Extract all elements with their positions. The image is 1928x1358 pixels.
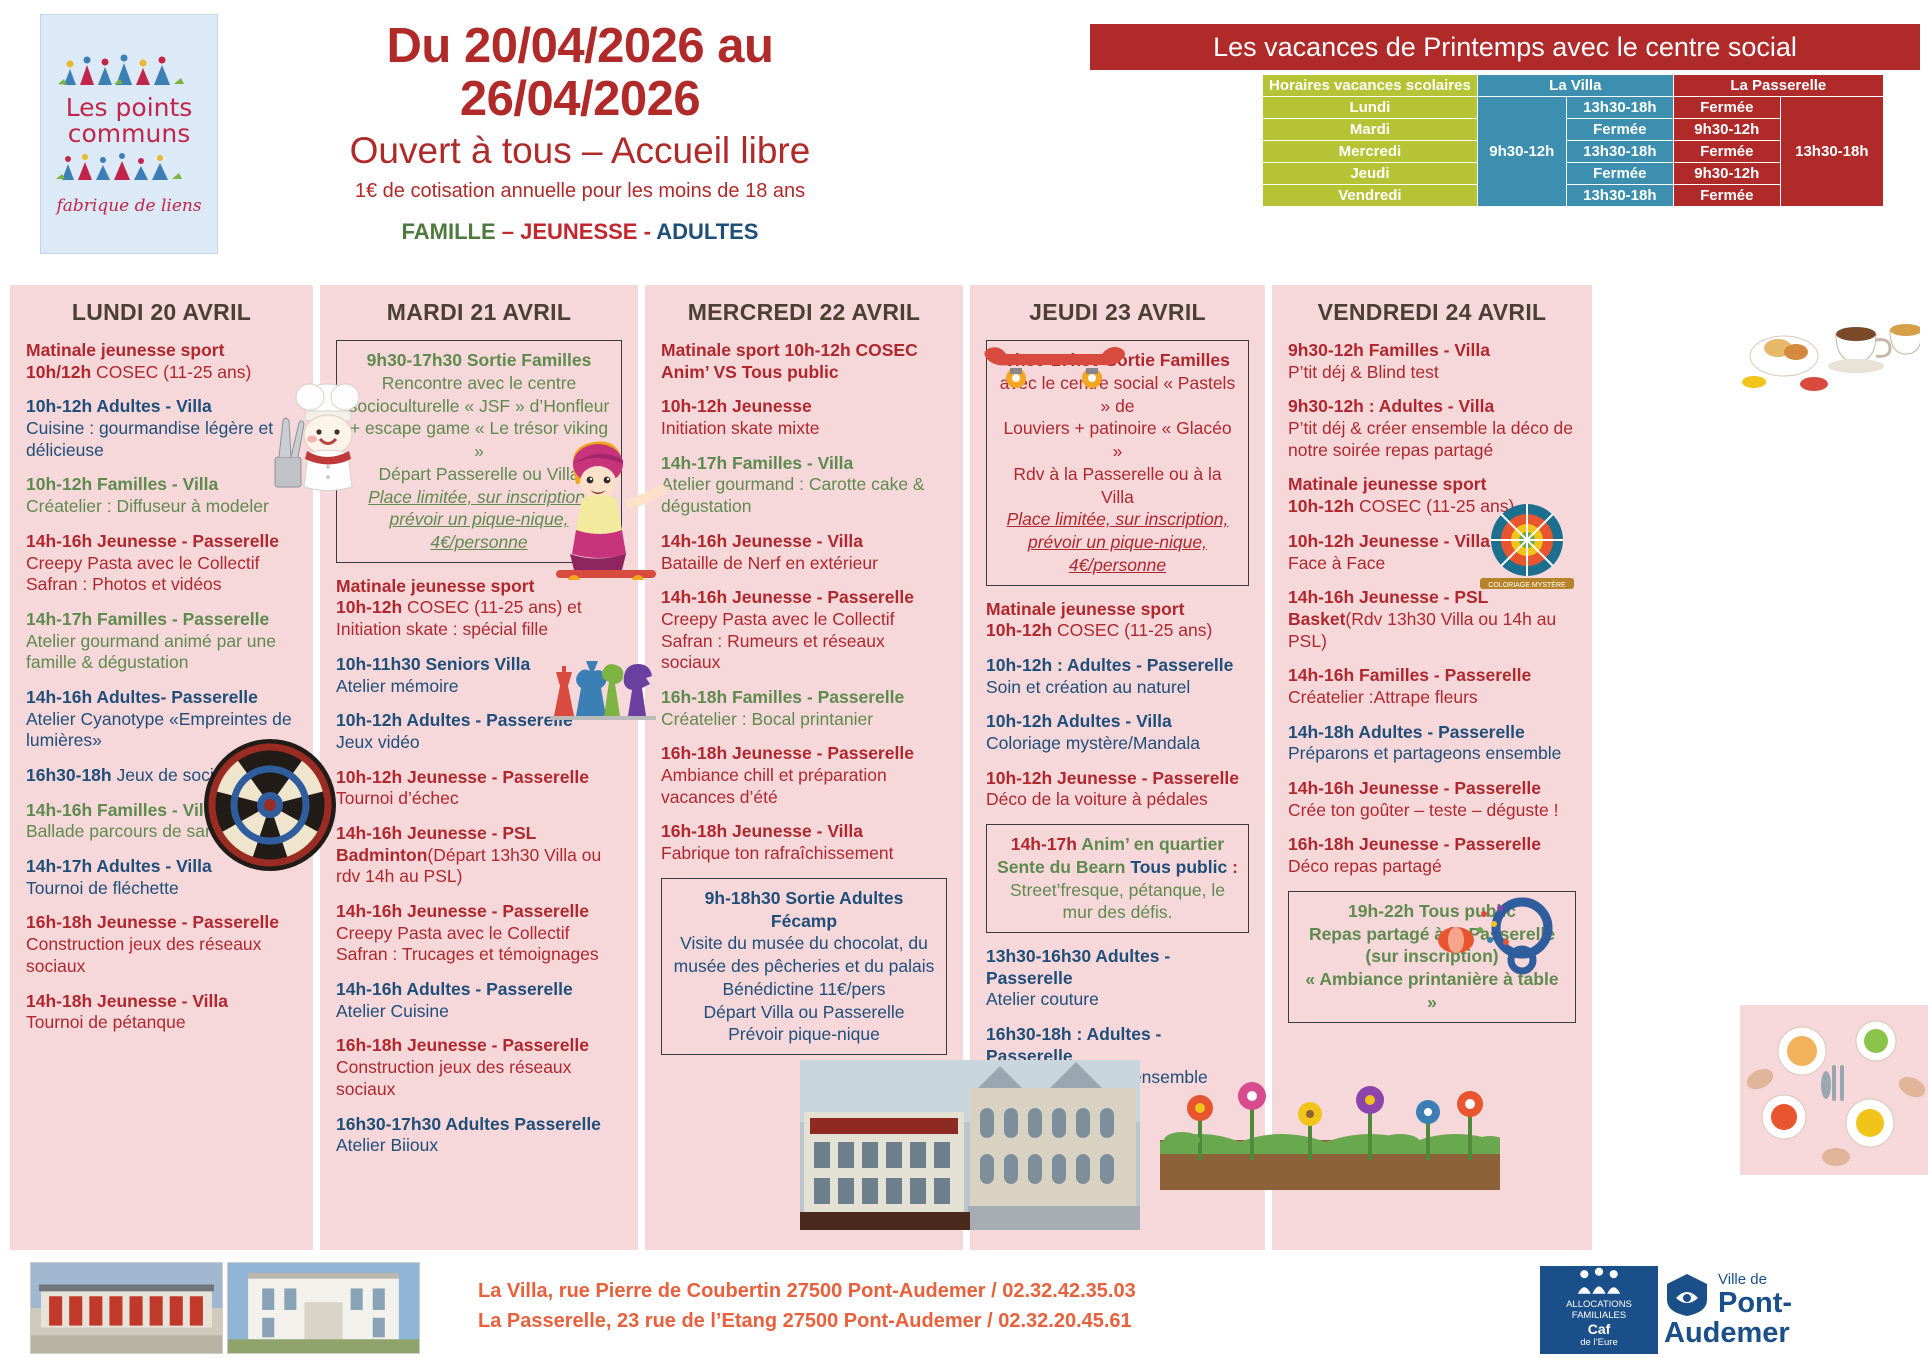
event-body: Atelier mémoire [336, 676, 622, 698]
hours-villa-pm-vendredi: 13h30-18h [1566, 185, 1673, 207]
event-line: Visite du musée du chocolat, du [672, 932, 936, 955]
day-column-2: MERCREDI 22 AVRILMatinale sport 10h-12h … [645, 285, 963, 1250]
event-heading: 14h-16h Jeunesse - Passerelle [26, 531, 297, 553]
event-item: 14h-16h Jeunesse - PSLBasket(Rdv 13h30 V… [1288, 587, 1576, 652]
event-body: Atelier Cyanotype «Empreintes de lumière… [26, 709, 297, 752]
hours-pass-am-lundi: Fermée [1673, 97, 1780, 119]
event-body: Cuisine : gourmandise légère et délicieu… [26, 418, 297, 461]
event-body: P’tit déj & créer ensemble la déco de no… [1288, 418, 1576, 461]
poster-footer: La Villa, rue Pierre de Coubertin 27500 … [0, 1262, 1928, 1358]
event-heading: 10h-12h Adultes - Villa [986, 711, 1249, 733]
event-time: 10h/12h [26, 362, 91, 382]
event-heading: 14h-16h Familles - Passerelle [1288, 665, 1576, 687]
event-item: Matinale jeunesse sport10h-12h COSEC (11… [336, 576, 622, 641]
hours-day-jeudi: Jeudi [1263, 163, 1478, 185]
people-figures-icon-2 [54, 148, 204, 192]
event-heading: 16h-18h Jeunesse - Villa [661, 821, 947, 843]
event-line: Rencontre avec le centre [347, 372, 611, 395]
event-item: 10h-12h Familles - VillaCréatelier : Dif… [26, 474, 297, 517]
event-item: 16h-18h Jeunesse - PasserelleConstructio… [336, 1035, 622, 1100]
event-item: 10h-12h Jeunesse - PasserelleDéco de la … [986, 768, 1249, 811]
event-heading: 10h-12h : Adultes - Passerelle [986, 655, 1249, 677]
event-item: 14h-16h Familles - PasserelleCréatelier … [1288, 665, 1576, 708]
building-photos [30, 1262, 420, 1354]
event-heading: 10h-12h Jeunesse - Passerelle [986, 768, 1249, 790]
event-body: Street’fresque, pétanque, le mur des déf… [997, 879, 1238, 925]
event-time: Badminton [336, 845, 427, 865]
event-item: 13h30-16h30 Adultes - PasserelleAtelier … [986, 946, 1249, 1011]
audience-famille: FAMILLE [402, 219, 496, 244]
event-body: Créatelier :Attrape fleurs [1288, 687, 1576, 709]
audience-legend: FAMILLE – JEUNESSE - ADULTES [300, 219, 860, 245]
event-heading-part: 14h-17h [1011, 834, 1081, 854]
event-heading: 14h-17h Familles - Passerelle [26, 609, 297, 631]
event-heading: 14h-18h Jeunesse - Villa [26, 991, 297, 1013]
event-heading: 14h-16h Jeunesse - Passerelle [661, 587, 947, 609]
hours-pass-am-mercredi: Fermée [1673, 141, 1780, 163]
hours-col-header: Horaires vacances scolaires [1263, 75, 1478, 97]
event-time: 10h-12h [336, 597, 402, 617]
event-heading: Matinale jeunesse sport [26, 340, 297, 362]
event-line: (sur inscription) [1299, 945, 1565, 968]
event-body: Jeux de société [112, 765, 238, 785]
breakfast-illustration [1740, 290, 1920, 410]
event-heading: 14h-18h Adultes - Passerelle [1288, 722, 1576, 744]
spring-holiday-banner: Les vacances de Printemps avec le centre… [1090, 24, 1920, 70]
event-item: Matinale sport 10h-12h COSECAnim’ VS Tou… [661, 340, 947, 383]
day-title: JEUDI 23 AVRIL [986, 299, 1249, 326]
day-column-0: LUNDI 20 AVRILMatinale jeunesse sport10h… [10, 285, 313, 1250]
event-item: Matinale jeunesse sport10h-12h COSEC (11… [1288, 474, 1576, 517]
event-body: Déco de la voiture à pédales [986, 789, 1249, 811]
event-heading-2: Anim’ VS Tous public [661, 362, 947, 384]
day-column-1: MARDI 21 AVRIL9h30-17h30 Sortie Familles… [320, 285, 638, 1250]
hours-passerelle-header: La Passerelle [1673, 75, 1883, 97]
event-time: 10h-12h [986, 620, 1052, 640]
subtitle: Ouvert à tous – Accueil libre [300, 128, 860, 174]
event-item: 10h-12h Adultes - PasserelleJeux vidéo [336, 710, 622, 753]
event-heading: 16h-18h Jeunesse - Passerelle [336, 1035, 622, 1057]
hours-row-lundi: Lundi 9h30-12h 13h30-18h Fermée 13h30-18… [1263, 97, 1884, 119]
event-heading: 9h30-17h30 Sortie Familles [997, 349, 1238, 372]
hours-villa-header: La Villa [1477, 75, 1673, 97]
event-heading-part: : [1227, 857, 1238, 877]
event-heading: 16h-18h Jeunesse - Passerelle [661, 743, 947, 765]
event-line: « Ambiance printanière à table » [1299, 968, 1565, 1014]
event-item: 9h30-12h Familles - VillaP’tit déj & Bli… [1288, 340, 1576, 383]
event-time: Basket [1288, 609, 1345, 629]
event-body: Atelier couture [986, 989, 1249, 1011]
event-item: 14h-17h Familles - VillaAtelier gourmand… [661, 453, 947, 518]
event-body: P’tit déj & Blind test [1288, 362, 1576, 384]
address-villa: La Villa, rue Pierre de Coubertin 27500 … [478, 1276, 1136, 1306]
event-item: 14h-17h Adultes - VillaTournoi de fléche… [26, 856, 297, 899]
event-note: Place limitée, sur inscription, prévoir … [347, 486, 611, 554]
event-line: 19h-22h Tous public [1299, 900, 1565, 923]
event-body: COSEC (11-25 ans) [91, 362, 251, 382]
event-heading: 16h-18h Jeunesse - Passerelle [26, 912, 297, 934]
hours-day-lundi: Lundi [1263, 97, 1478, 119]
event-body: Crée ton goûter – teste – déguste ! [1288, 800, 1576, 822]
day-title: LUNDI 20 AVRIL [26, 299, 297, 326]
event-body: Préparons et partageons ensemble [1288, 743, 1576, 765]
event-item: 14h-16h Jeunesse - PasserelleCrée ton go… [1288, 778, 1576, 821]
event-item: 10h-11h30 Seniors VillaAtelier mémoire [336, 654, 622, 697]
event-heading: 14h-16h Jeunesse - Villa [661, 531, 947, 553]
event-body: Construction jeux des réseaux sociaux [26, 934, 297, 977]
opening-hours-table: Horaires vacances scolaires La Villa La … [1262, 74, 1884, 207]
contact-addresses: La Villa, rue Pierre de Coubertin 27500 … [478, 1276, 1136, 1336]
event-line: Repas partagé à la Passerelle [1299, 923, 1565, 946]
event-heading: Matinale jeunesse sport [1288, 474, 1576, 496]
day-column-3: JEUDI 23 AVRIL9h30-17h30 Sortie Familles… [970, 285, 1265, 1250]
event-heading: 10h-12h Familles - Villa [26, 474, 297, 496]
event-body: Tournoi de fléchette [26, 878, 297, 900]
event-body: Soin et création au naturel [986, 677, 1249, 699]
event-item: Matinale jeunesse sport10h/12h COSEC (11… [26, 340, 297, 383]
event-body: Creepy Pasta avec le Collectif Safran : … [26, 553, 297, 596]
boxed-event-top: 9h30-17h30 Sortie Famillesavec le centre… [986, 340, 1249, 586]
event-heading: 14h-16h Adultes- Passerelle [26, 687, 297, 709]
event-body: COSEC (11-25 ans) [1052, 620, 1212, 640]
event-body: Creepy Pasta avec le Collectif Safran : … [336, 923, 622, 966]
event-line: 10h-12h COSEC (11-25 ans) [986, 620, 1249, 642]
event-line: Louviers + patinoire « Glacéo » [997, 417, 1238, 463]
event-heading: Matinale jeunesse sport [336, 576, 622, 598]
ville-logo: Ville de Pont-Audemer [1664, 1272, 1864, 1349]
hours-villa-pm-mardi: Fermée [1566, 119, 1673, 141]
event-item: 10h-12h Adultes - VillaColoriage mystère… [986, 711, 1249, 754]
hours-villa-morning: 9h30-12h [1477, 97, 1566, 207]
event-body: Initiation skate mixte [661, 418, 947, 440]
event-body: Atelier Biioux [336, 1135, 622, 1157]
poster-header: Les points communs fabrique de liens Du … [0, 0, 1928, 256]
event-heading: 10h-11h30 Seniors Villa [336, 654, 622, 676]
event-heading: 14h-17h Adultes - Villa [26, 856, 297, 878]
event-heading: 14h-16h Jeunesse - Passerelle [336, 901, 622, 923]
hours-villa-pm-lundi: 13h30-18h [1566, 97, 1673, 119]
caf-line1: ALLOCATIONS [1540, 1299, 1658, 1310]
event-item: 14h-16h Jeunesse - PasserelleCreepy Past… [661, 587, 947, 674]
hours-day-mardi: Mardi [1263, 119, 1478, 141]
event-body: Atelier Cuisine [336, 1001, 622, 1023]
event-line: Prévoir pique-nique [672, 1023, 936, 1046]
caf-line2: FAMILIALES [1540, 1310, 1658, 1321]
event-body: Atelier gourmand : Carotte cake & dégust… [661, 474, 947, 517]
event-body: Déco repas partagé [1288, 856, 1576, 878]
event-body: Ambiance chill et préparation vacances d… [661, 765, 947, 808]
event-body: Construction jeux des réseaux sociaux [336, 1057, 622, 1100]
event-item: 14h-18h Adultes - PasserellePréparons et… [1288, 722, 1576, 765]
event-body: Décorons le jardin ensemble [986, 1067, 1249, 1089]
event-body: Atelier gourmand animé par une famille &… [26, 631, 297, 674]
hours-passerelle-afternoon: 13h30-18h [1780, 97, 1883, 207]
event-heading: 10h-12h Jeunesse [661, 396, 947, 418]
event-line: Départ Passerelle ou Villa [347, 463, 611, 486]
membership-note: 1€ de cotisation annuelle pour les moins… [300, 180, 860, 203]
event-item: 14h-16h Jeunesse - PasserelleCreepy Past… [336, 901, 622, 966]
event-item: 14h-16h Adultes- PasserelleAtelier Cyano… [26, 687, 297, 752]
event-heading: 16h-18h Jeunesse - Passerelle [1288, 834, 1576, 856]
people-figures-icon [54, 51, 204, 95]
event-item: 16h-18h Familles - PasserelleCréatelier … [661, 687, 947, 730]
event-item: 16h-18h Jeunesse - PasserelleDéco repas … [1288, 834, 1576, 877]
address-passerelle: La Passerelle, 23 rue de l’Etang 27500 P… [478, 1306, 1136, 1336]
event-item: 16h30-18h Jeux de société [26, 765, 297, 787]
event-line: Départ Villa ou Passerelle [672, 1001, 936, 1024]
event-heading: 9h30-12h : Adultes - Villa [1288, 396, 1576, 418]
hours-day-vendredi: Vendredi [1263, 185, 1478, 207]
event-heading-part: Anim’ en quartier [1081, 834, 1224, 854]
logo-line1: Les points [66, 95, 193, 121]
boxed-event-bottom: 19h-22h Tous publicRepas partagé à la Pa… [1288, 891, 1576, 1023]
day-column-4: VENDREDI 24 AVRIL9h30-12h Familles - Vil… [1272, 285, 1592, 1250]
event-line: socioculturelle « JSF » d’Honfleur [347, 395, 611, 418]
event-item: Matinale jeunesse sport10h-12h COSEC (11… [986, 599, 1249, 642]
event-body: Bataille de Nerf en extérieur [661, 553, 947, 575]
event-heading: 14h-16h Jeunesse - PSL [336, 823, 622, 845]
event-line: 10h-12h COSEC (11-25 ans) [1288, 496, 1576, 518]
audience-adultes: ADULTES [656, 219, 758, 244]
event-item: 14h-16h Jeunesse - VillaBataille de Nerf… [661, 531, 947, 574]
event-body: Tournoi de pétanque [26, 1012, 297, 1034]
event-heading: 14h-16h Jeunesse - Passerelle [1288, 778, 1576, 800]
day-title: VENDREDI 24 AVRIL [1288, 299, 1576, 326]
ville-crest-icon [1664, 1272, 1710, 1318]
event-item: 14h-18h Jeunesse - VillaTournoi de pétan… [26, 991, 297, 1034]
event-line: avec le centre social « Pastels » de [997, 372, 1238, 418]
day-title: MERCREDI 22 AVRIL [661, 299, 947, 326]
event-item: 16h-18h Jeunesse - PasserelleConstructio… [26, 912, 297, 977]
event-item: 9h30-12h : Adultes - VillaP’tit déj & cr… [1288, 396, 1576, 461]
event-line: 16h30-18h Jeux de société [26, 765, 297, 787]
event-item: 10h-12h JeunesseInitiation skate mixte [661, 396, 947, 439]
event-heading: 10h-12h Adultes - Villa [26, 396, 297, 418]
audience-jeunesse: JEUNESSE [520, 219, 637, 244]
event-body: Ballade parcours de santé [26, 821, 297, 843]
event-item: 14h-16h Adultes - PasserelleAtelier Cuis… [336, 979, 622, 1022]
event-heading: 14h-17h Familles - Villa [661, 453, 947, 475]
photo-la-passerelle [30, 1262, 223, 1354]
event-body: Créatelier : Bocal printanier [661, 709, 947, 731]
date-range: Du 20/04/2026 au 26/04/2026 [300, 20, 860, 126]
day-title: MARDI 21 AVRIL [336, 299, 622, 326]
photo-la-villa [227, 1262, 420, 1354]
event-item: 16h30-17h30 Adultes PasserelleAtelier Bi… [336, 1114, 622, 1157]
event-heading: Matinale sport 10h-12h COSEC [661, 340, 947, 362]
event-body: Coloriage mystère/Mandala [986, 733, 1249, 755]
event-line: Badminton(Départ 13h30 Villa ou rdv 14h … [336, 845, 622, 888]
hours-villa-pm-jeudi: Fermée [1566, 163, 1673, 185]
boxed-event-bottom: 9h-18h30 Sortie Adultes FécampVisite du … [661, 878, 947, 1055]
hours-pass-am-jeudi: 9h30-12h [1673, 163, 1780, 185]
event-item: 14h-16h Familles - VillaBallade parcours… [26, 800, 297, 843]
event-heading: 16h30-17h30 Adultes Passerelle [336, 1114, 622, 1136]
event-body: Tournoi d’échec [336, 788, 622, 810]
event-body: Fabrique ton rafraîchissement [661, 843, 947, 865]
event-item: 14h-17h Familles - PasserelleAtelier gou… [26, 609, 297, 674]
event-item: 16h-18h Jeunesse - PasserelleAmbiance ch… [661, 743, 947, 808]
audience-sep2: - [637, 219, 656, 244]
hours-pass-am-mardi: 9h30-12h [1673, 119, 1780, 141]
event-heading: 10h-12h Adultes - Passerelle [336, 710, 622, 732]
caf-logo: ALLOCATIONS FAMILIALES Caf de l’Eure [1540, 1266, 1658, 1354]
event-line: musée des pêcheries et du palais [672, 955, 936, 978]
hours-day-mercredi: Mercredi [1263, 141, 1478, 163]
event-line: Bénédictine 11€/pers [672, 978, 936, 1001]
boxed-event-top: 9h30-17h30 Sortie FamillesRencontre avec… [336, 340, 622, 563]
caf-line3: Caf [1540, 1321, 1658, 1337]
event-body: Face à Face [1288, 553, 1576, 575]
event-heading: 9h30-12h Familles - Villa [1288, 340, 1576, 362]
event-heading: 14h-16h Adultes - Passerelle [336, 979, 622, 1001]
hours-villa-pm-mercredi: 13h30-18h [1566, 141, 1673, 163]
event-heading-part: Tous public [1130, 857, 1227, 877]
event-heading: 14h-17h Anim’ en quartier Sente du Bearn… [997, 833, 1238, 879]
event-line: 10h-12h COSEC (11-25 ans) et Initiation … [336, 597, 622, 640]
event-heading: 10h-12h Jeunesse - Passerelle [336, 767, 622, 789]
event-heading: 9h30-17h30 Sortie Familles [347, 349, 611, 372]
event-item: 16h-18h Jeunesse - VillaFabrique ton raf… [661, 821, 947, 864]
event-heading: Matinale jeunesse sport [986, 599, 1249, 621]
event-line: Basket(Rdv 13h30 Villa ou 14h au PSL) [1288, 609, 1576, 652]
event-line: + escape game « Le trésor viking » [347, 417, 611, 463]
event-line: 10h/12h COSEC (11-25 ans) [26, 362, 297, 384]
event-heading: 16h-18h Familles - Passerelle [661, 687, 947, 709]
event-body: Jeux vidéo [336, 732, 622, 754]
title-block: Du 20/04/2026 au 26/04/2026 Ouvert à tou… [300, 20, 860, 245]
shared-meal-illustration [1740, 1005, 1928, 1175]
event-heading: 14h-16h Familles - Villa [26, 800, 297, 822]
audience-sep1: – [496, 219, 520, 244]
caf-line4: de l’Eure [1540, 1337, 1658, 1348]
event-item: 16h30-18h : Adultes - PasserelleDécorons… [986, 1024, 1249, 1089]
event-line: Rdv à la Passerelle ou à la Villa [997, 463, 1238, 509]
logo-line2: communs [68, 121, 190, 147]
hours-pass-am-vendredi: Fermée [1673, 185, 1780, 207]
event-note: Place limitée, sur inscription, prévoir … [997, 508, 1238, 576]
event-item: 10h-12h : Adultes - PasserelleSoin et cr… [986, 655, 1249, 698]
event-body: Créatelier : Diffuseur à modeler [26, 496, 297, 518]
logo-tagline: fabrique de liens [56, 196, 201, 216]
event-item: 10h-12h Adultes - VillaCuisine : gourman… [26, 396, 297, 461]
event-heading: 14h-16h Jeunesse - PSL [1288, 587, 1576, 609]
event-heading-part: Sente du Bearn [997, 857, 1130, 877]
event-body: Creepy Pasta avec le Collectif Safran : … [661, 609, 947, 674]
organisation-logo: Les points communs fabrique de liens [40, 14, 218, 254]
event-item: 14h-16h Jeunesse - PSLBadminton(Départ 1… [336, 823, 622, 888]
event-time: 10h-12h [1288, 496, 1354, 516]
boxed-event-mid: 14h-17h Anim’ en quartier Sente du Bearn… [986, 824, 1249, 933]
event-item: 10h-12h Jeunesse - PasserelleTournoi d’é… [336, 767, 622, 810]
event-heading: 16h30-18h [26, 765, 112, 785]
event-item: 10h-12h Jeunesse - VillaFace à Face [1288, 531, 1576, 574]
event-body: COSEC (11-25 ans) [1354, 496, 1514, 516]
caf-emblem-icon [1567, 1266, 1631, 1297]
event-heading: 10h-12h Jeunesse - Villa [1288, 531, 1576, 553]
event-item: 14h-16h Jeunesse - PasserelleCreepy Past… [26, 531, 297, 596]
event-heading: 9h-18h30 Sortie Adultes Fécamp [672, 887, 936, 933]
event-heading: 13h30-16h30 Adultes - Passerelle [986, 946, 1249, 989]
event-heading: 16h30-18h : Adultes - Passerelle [986, 1024, 1249, 1067]
